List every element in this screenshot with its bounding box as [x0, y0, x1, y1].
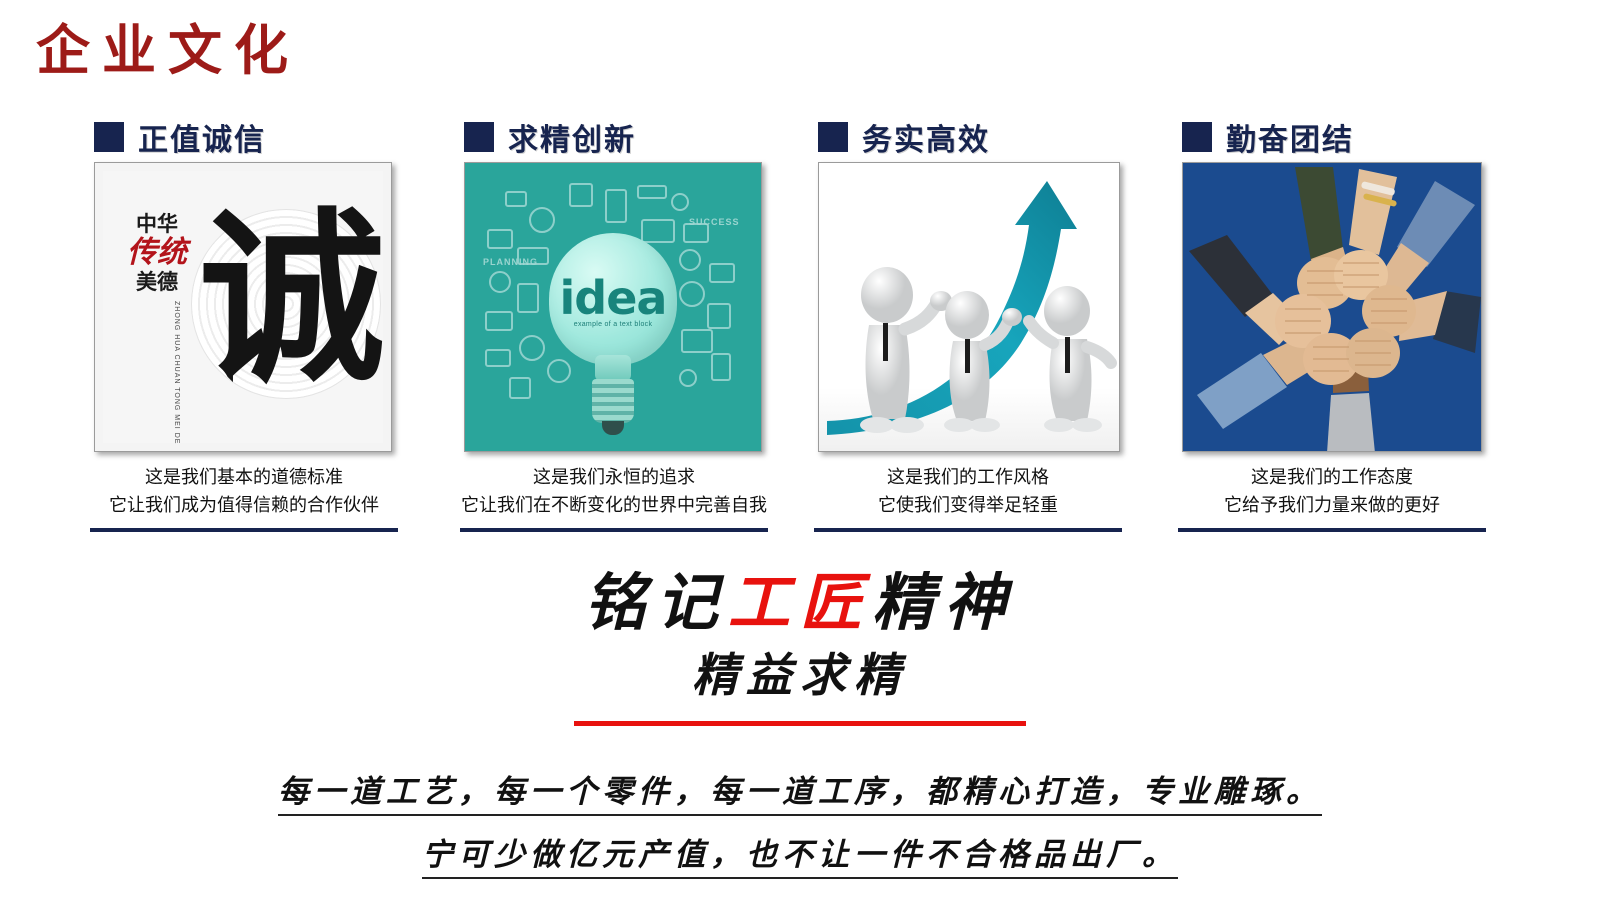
caption-line-1: 这是我们的工作态度 — [1174, 464, 1490, 492]
figure-center — [944, 291, 1022, 432]
slogan-sub: 精益求精 — [0, 639, 1600, 705]
idea-word: idea — [560, 271, 667, 325]
column-heading-label: 务实高效 — [862, 115, 990, 159]
column-heading-label: 勤奋团结 — [1226, 115, 1354, 159]
pinyin-text: ZHONG HUA CHUAN TONG MEI DE — [173, 301, 180, 444]
bottom-line-2: 宁可少做亿元产值，也不让一件不合格品出厂。 — [422, 829, 1178, 879]
doodle-shape — [709, 263, 735, 283]
doodle-shape — [707, 303, 731, 329]
culture-column-integrity: 正值诚信 诚 中华 传统 美德 ZHONG HUA CHUAN TONG MEI… — [86, 112, 456, 552]
column-image-innovation[interactable]: PLANNING SUCCESS idea example of a text … — [464, 162, 762, 452]
lightbulb-neck-icon — [595, 355, 631, 381]
vertical-text-bottom: 美德 — [136, 271, 178, 293]
caption-line-2: 它让我们在不断变化的世界中完善自我 — [456, 492, 772, 520]
column-caption: 这是我们的工作风格 它使我们变得举足轻重 — [810, 464, 1126, 520]
column-heading: 求精创新 — [456, 112, 826, 162]
big-character: 诚 — [199, 207, 385, 397]
vertical-text-top: 中华 — [136, 213, 178, 235]
bottom-line-1: 每一道工艺，每一个零件，每一道工序，都精心打造，专业雕琢。 — [278, 766, 1322, 816]
caption-line-1: 这是我们的工作风格 — [810, 464, 1126, 492]
doodle-shape — [679, 249, 701, 271]
page-title: 企业文化 — [36, 6, 300, 85]
column-underline — [90, 528, 398, 532]
vertical-text-group: 中华 传统 美德 — [127, 213, 187, 293]
doodle-shape — [485, 311, 513, 331]
slogan-underline — [574, 721, 1026, 726]
square-marker-icon — [464, 122, 494, 152]
slide-canvas: 企业文化 正值诚信 诚 中华 传统 美德 ZHONG HUA CHUAN TON… — [0, 0, 1600, 900]
slogan-block: 铭记工匠精神 精益求精 — [0, 572, 1600, 726]
figure-right — [1029, 286, 1111, 432]
column-underline — [814, 528, 1122, 532]
column-underline — [460, 528, 768, 532]
column-image-teamwork[interactable] — [1182, 162, 1482, 452]
caption-line-2: 它给予我们力量来做的更好 — [1174, 492, 1490, 520]
slogan-main-part1: 铭记 — [584, 570, 728, 638]
column-image-integrity[interactable]: 诚 中华 传统 美德 ZHONG HUA CHUAN TONG MEI DE — [94, 162, 392, 452]
caption-line-2: 它使我们变得举足轻重 — [810, 492, 1126, 520]
column-caption: 这是我们基本的道德标准 它让我们成为值得信赖的合作伙伴 — [86, 464, 402, 520]
idea-subtitle: example of a text block — [574, 321, 653, 328]
doodle-shape — [711, 353, 731, 381]
column-heading: 务实高效 — [810, 112, 1180, 162]
doodle-shape — [509, 377, 531, 399]
growth-arrow-illustration — [819, 163, 1119, 452]
doodle-shape — [671, 193, 689, 211]
lightbulb-screw-icon — [592, 379, 634, 423]
calligraphy-canvas: 诚 中华 传统 美德 ZHONG HUA CHUAN TONG MEI DE — [103, 171, 383, 443]
arm-grey — [1327, 393, 1375, 452]
culture-column-efficiency: 务实高效 — [810, 112, 1180, 552]
column-underline — [1178, 528, 1486, 532]
slogan-main: 铭记工匠精神 — [0, 572, 1600, 637]
doodle-shape — [529, 207, 555, 233]
doodle-shape — [517, 283, 539, 313]
column-caption: 这是我们永恒的追求 它让我们在不断变化的世界中完善自我 — [456, 464, 772, 520]
doodle-label-planning: PLANNING — [483, 257, 538, 267]
column-heading-label: 正值诚信 — [138, 115, 266, 159]
caption-line-2: 它让我们成为值得信赖的合作伙伴 — [86, 492, 402, 520]
doodle-shape — [637, 185, 667, 199]
fists-circle-illustration — [1183, 163, 1482, 452]
square-marker-icon — [94, 122, 124, 152]
doodle-shape — [569, 183, 593, 207]
culture-column-innovation: 求精创新 — [456, 112, 826, 552]
square-marker-icon — [818, 122, 848, 152]
doodle-shape — [487, 229, 513, 249]
doodle-label-success: SUCCESS — [689, 217, 740, 227]
doodle-shape — [681, 329, 713, 353]
caption-line-1: 这是我们永恒的追求 — [456, 464, 772, 492]
column-caption: 这是我们的工作态度 它给予我们力量来做的更好 — [1174, 464, 1490, 520]
column-heading-label: 求精创新 — [508, 115, 636, 159]
doodle-shape — [679, 369, 697, 387]
doodle-shape — [547, 359, 571, 383]
culture-column-teamwork: 勤奋团结 — [1174, 112, 1544, 552]
doodle-shape — [679, 281, 705, 307]
vertical-text-mid: 传统 — [127, 237, 187, 269]
doodle-shape — [605, 189, 627, 223]
caption-line-1: 这是我们基本的道德标准 — [86, 464, 402, 492]
culture-columns: 正值诚信 诚 中华 传统 美德 ZHONG HUA CHUAN TONG MEI… — [0, 112, 1600, 552]
slogan-main-part2: 精神 — [872, 570, 1016, 638]
doodle-shape — [505, 191, 527, 207]
bottom-statement-block: 每一道工艺，每一个零件，每一道工序，都精心打造，专业雕琢。 宁可少做亿元产值，也… — [0, 766, 1600, 879]
slogan-main-highlight: 工匠 — [728, 570, 872, 638]
column-image-efficiency[interactable] — [818, 162, 1120, 452]
square-marker-icon — [1182, 122, 1212, 152]
doodle-shape — [641, 219, 675, 243]
doodle-shape — [519, 335, 545, 361]
doodle-shape — [489, 271, 511, 293]
arm-sleeve — [1295, 167, 1343, 261]
column-heading: 勤奋团结 — [1174, 112, 1544, 162]
column-heading: 正值诚信 — [86, 112, 456, 162]
doodle-shape — [485, 349, 511, 367]
